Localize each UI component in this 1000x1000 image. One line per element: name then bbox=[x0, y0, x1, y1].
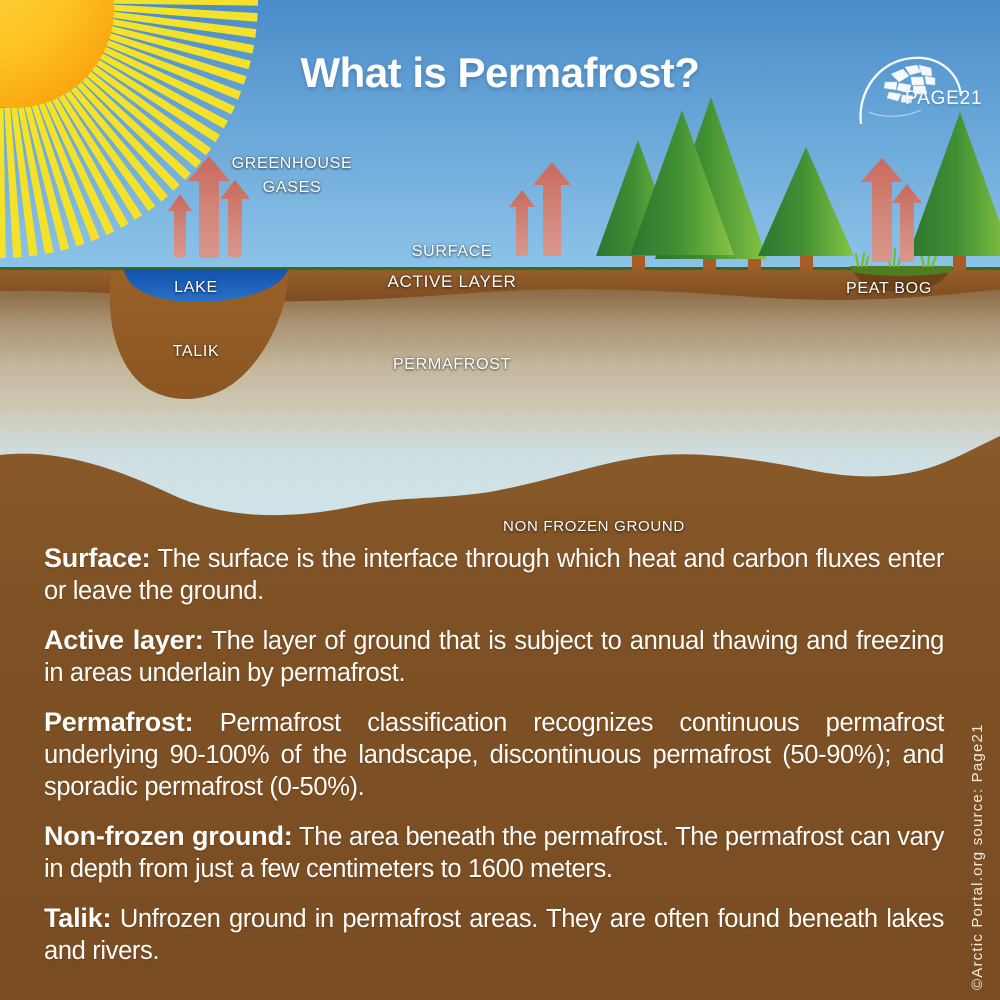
gas-arrow bbox=[168, 194, 192, 257]
gas-arrow bbox=[188, 156, 230, 258]
label-greenhouse-gases-line1: GREENHOUSE bbox=[232, 155, 353, 173]
definition-term: Active layer: bbox=[44, 625, 204, 655]
tree-canopy bbox=[758, 147, 854, 256]
credit-container: ©Arctic Portal.org source: Page21 bbox=[974, 670, 998, 990]
definition-body: Unfrozen ground in permafrost areas. The… bbox=[44, 905, 944, 965]
definition-term: Surface: bbox=[44, 543, 150, 573]
label-lake: LAKE bbox=[174, 279, 218, 297]
gas-arrow bbox=[509, 190, 535, 256]
definition-body: The surface is the interface through whi… bbox=[44, 545, 944, 605]
label-permafrost: PERMAFROST bbox=[393, 356, 511, 374]
label-non-frozen-ground: NON FROZEN GROUND bbox=[503, 518, 685, 535]
label-surface: SURFACE bbox=[412, 243, 492, 261]
label-active-layer: ACTIVE LAYER bbox=[387, 272, 516, 292]
logo-text: PAGE21 bbox=[905, 88, 982, 110]
infographic-poster: What is Permafrost? PAGE21 GREENHOUSE GA… bbox=[0, 0, 1000, 1000]
definition-talik: Talik: Unfrozen ground in permafrost are… bbox=[44, 902, 944, 967]
definition-permafrost: Permafrost: Permafrost classification re… bbox=[44, 706, 944, 803]
label-talik: TALIK bbox=[173, 343, 220, 361]
credit-text: ©Arctic Portal.org source: Page21 bbox=[969, 723, 986, 990]
page-title: What is Permafrost? bbox=[0, 49, 1000, 97]
gas-arrow bbox=[220, 180, 250, 257]
definition-term: Non-frozen ground: bbox=[44, 821, 293, 851]
label-greenhouse-gases-line2: GASES bbox=[263, 179, 322, 197]
definition-non-frozen-ground: Non-frozen ground: The area beneath the … bbox=[44, 820, 944, 885]
definitions-panel: Surface: The surface is the interface th… bbox=[0, 536, 1000, 1000]
gas-arrow bbox=[533, 162, 571, 256]
definition-active-layer: Active layer: The layer of ground that i… bbox=[44, 624, 944, 689]
tree-canopy bbox=[908, 112, 1000, 256]
definition-surface: Surface: The surface is the interface th… bbox=[44, 542, 944, 607]
label-peat-bog: PEAT BOG bbox=[846, 280, 932, 298]
gas-arrow bbox=[861, 158, 903, 262]
definition-term: Permafrost: bbox=[44, 707, 193, 737]
definition-term: Talik: bbox=[44, 903, 111, 933]
